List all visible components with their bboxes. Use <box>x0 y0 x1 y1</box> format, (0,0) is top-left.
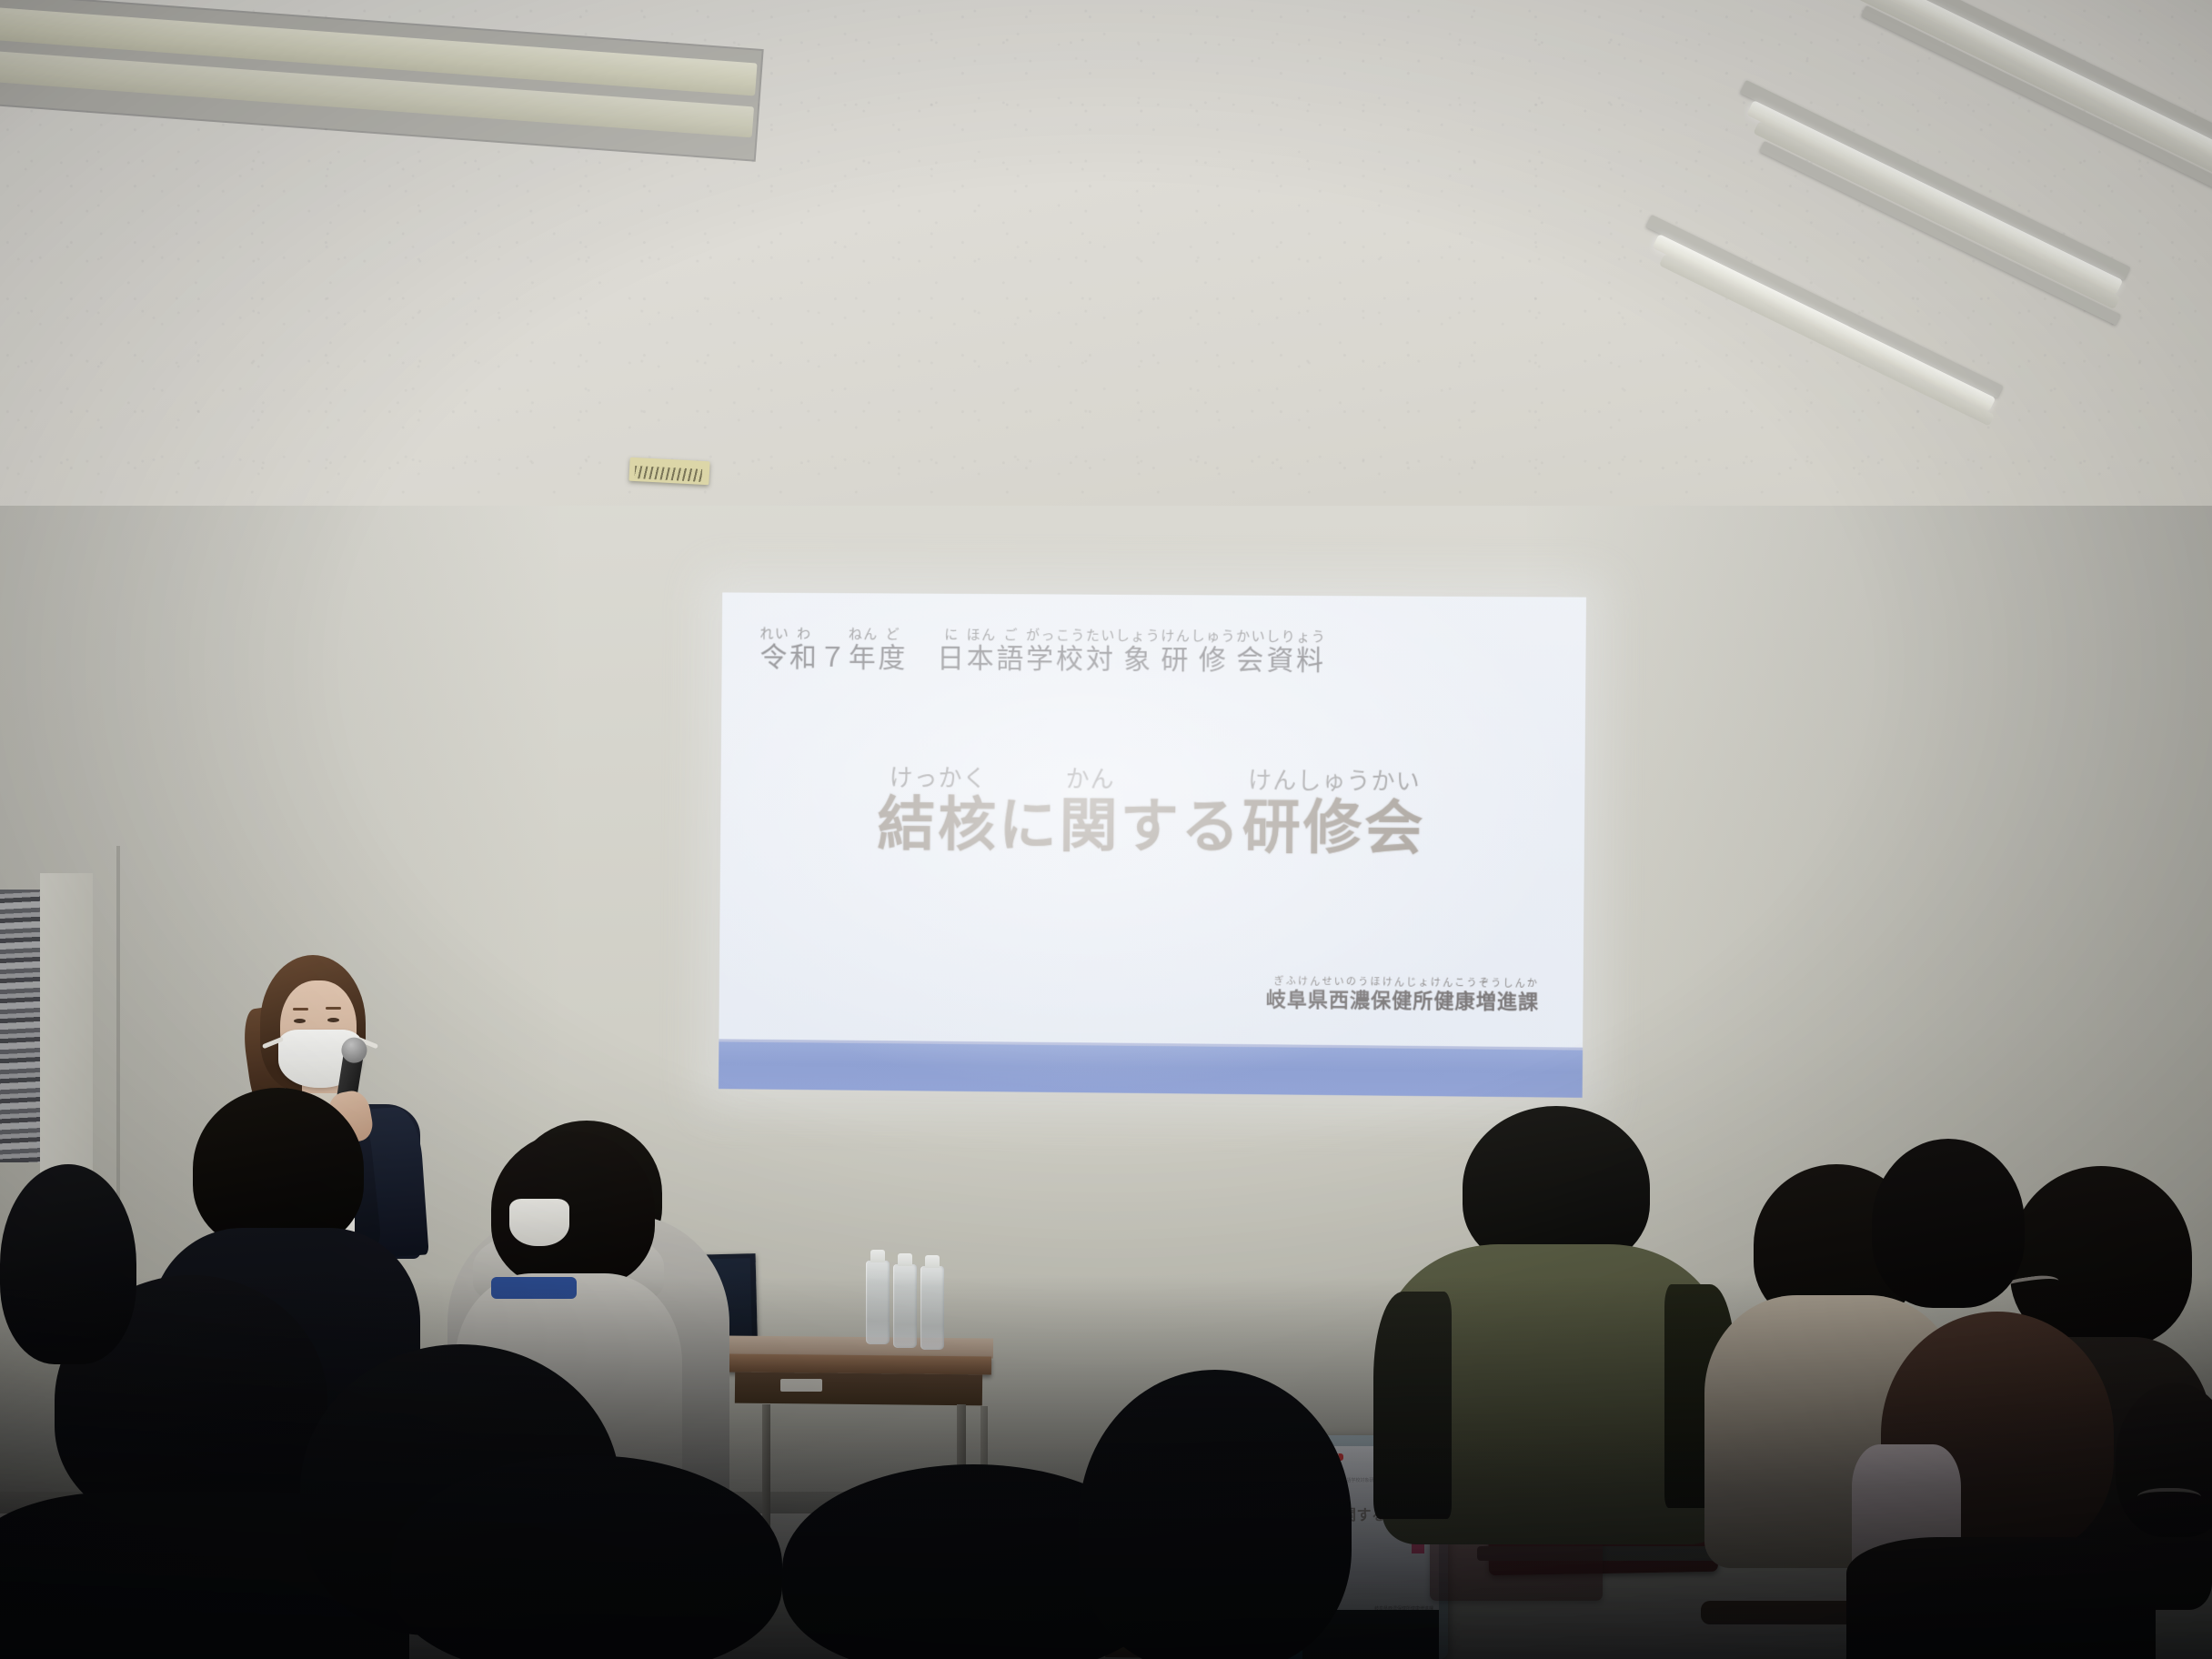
water-bottle <box>893 1264 917 1348</box>
kanji: 研 <box>1161 645 1191 676</box>
kanji: 象 <box>1123 645 1153 676</box>
slide-title: けっかく結核 に かん関 する けんしゅうかい研修会 <box>720 765 1585 862</box>
ruby-unit: ７ <box>819 642 849 674</box>
ruby-unit: に日 <box>937 628 967 674</box>
ruby-unit: れい令 <box>759 628 789 673</box>
ceiling-light-top-right <box>1739 0 2212 364</box>
furigana: しゅう <box>1191 629 1236 644</box>
kanji: 研修会 <box>1242 795 1425 860</box>
furigana: けん <box>1161 629 1191 644</box>
ruby-unit <box>908 642 938 674</box>
wall-seam <box>116 846 120 1228</box>
water-bottle <box>866 1261 890 1344</box>
kanji: に <box>999 793 1060 858</box>
presenter-eyebrow <box>326 1007 341 1010</box>
ceiling-vent <box>628 457 709 486</box>
furigana: がっ <box>1026 628 1056 643</box>
audience-head <box>1872 1139 2025 1308</box>
furigana: しりょう <box>1266 630 1326 645</box>
slide-footer-organization: ぎふけんせいのうほけんじょけんこうぞうしんか 岐阜県西濃保健所健康増進課 <box>1266 977 1540 1013</box>
lanyard <box>491 1277 577 1299</box>
ruby-unit: けっかく結核 <box>877 766 999 857</box>
presenter-eye <box>327 1018 339 1022</box>
kanji: 修 <box>1199 645 1229 676</box>
lecture-room-scene: れい令 わ和 ７ ねん年 ど度 に日 ほん本 ご語 がっ学 こう校 たい対 しょ… <box>0 0 2212 1659</box>
furigana: かん <box>1066 767 1115 790</box>
kanji: 本 <box>967 644 997 675</box>
furigana: ねん <box>849 628 879 642</box>
kanji <box>908 643 938 674</box>
kanji: 会 <box>1236 645 1266 676</box>
ruby-unit: がっ学 <box>1026 628 1056 674</box>
ruby-unit: ど度 <box>878 628 908 673</box>
furigana: ご <box>1004 628 1020 643</box>
ruby-unit: しょう象 <box>1116 629 1161 676</box>
ruby-unit: かん関 <box>1059 767 1121 858</box>
kanji: 対 <box>1086 644 1116 675</box>
projected-slide: れい令 わ和 ７ ねん年 ど度 に日 ほん本 ご語 がっ学 こう校 たい対 しょ… <box>719 592 1586 1097</box>
kanji: 令 <box>759 642 789 673</box>
ruby-unit: しりょう資料 <box>1266 630 1327 677</box>
kanji: 日 <box>937 643 967 674</box>
ruby-unit: わ和 <box>789 628 819 673</box>
kanji: 語 <box>996 644 1026 675</box>
ruby-unit: ご語 <box>996 628 1026 674</box>
audience-head <box>1079 1370 1352 1659</box>
slide-header-line: れい令 わ和 ７ ねん年 ど度 に日 ほん本 ご語 がっ学 こう校 たい対 しょ… <box>759 628 1413 678</box>
presenter-eyebrow <box>293 1008 308 1010</box>
kanji: 和 <box>789 642 819 673</box>
kanji: 関 <box>1059 793 1120 858</box>
furigana: たい <box>1086 629 1116 644</box>
ruby-unit: しゅう修 <box>1191 629 1236 676</box>
ruby-unit: ほん本 <box>966 628 996 674</box>
fluorescent-tube <box>1746 100 2123 295</box>
furigana: かい <box>1236 630 1266 645</box>
audience-head <box>391 1455 782 1659</box>
water-bottle <box>920 1266 944 1350</box>
kanji: 岐阜県西濃保健所健康増進課 <box>1266 989 1540 1013</box>
furigana: れい <box>759 628 789 642</box>
kanji: 学 <box>1026 644 1056 675</box>
slide-accent-bar <box>719 1041 1583 1098</box>
ruby-unit: かい会 <box>1236 630 1266 677</box>
fluorescent-tube <box>1753 121 2120 309</box>
ruby-unit: する <box>1120 791 1242 859</box>
face-mask-icon <box>509 1199 569 1246</box>
kanji: 年 <box>849 643 879 674</box>
ruby-unit: たい対 <box>1086 629 1116 676</box>
presenter-eye <box>294 1019 306 1023</box>
ruby-unit: けん研 <box>1161 629 1191 676</box>
kanji: する <box>1120 794 1242 859</box>
ruby-unit: に <box>999 790 1060 858</box>
ruby-unit: こう校 <box>1056 628 1086 675</box>
furigana: ほん <box>967 628 997 643</box>
ruby-unit: ねん年 <box>849 628 879 673</box>
kanji: 結核 <box>877 792 999 857</box>
audience-head <box>193 1088 364 1250</box>
desk-tray <box>780 1379 822 1392</box>
furigana: ど <box>886 628 901 642</box>
furigana: に <box>944 628 960 643</box>
furigana: こう <box>1056 628 1086 643</box>
kanji: 校 <box>1056 644 1086 675</box>
furigana: わ <box>797 628 812 642</box>
furigana: けっかく <box>890 766 988 790</box>
furigana: しょう <box>1116 629 1161 644</box>
slide-header-ruby-row: れい令 わ和 ７ ねん年 ど度 に日 ほん本 ご語 がっ学 こう校 たい対 しょ… <box>759 628 1413 678</box>
furigana: けんしゅうかい <box>1248 769 1421 793</box>
audience-head <box>0 1164 136 1364</box>
desk-left-apron <box>735 1372 982 1406</box>
ruby-unit: けんしゅうかい研修会 <box>1242 769 1425 860</box>
slide-title-ruby-row: けっかく結核 に かん関 する けんしゅうかい研修会 <box>877 766 1426 860</box>
kanji: 資料 <box>1266 646 1325 677</box>
wall-shelf-edge <box>40 873 93 1173</box>
wall-shelf-slats <box>0 890 40 1162</box>
eyeglasses-icon <box>2137 1488 2201 1508</box>
audience-shoulders <box>1846 1537 2156 1659</box>
audience-arm <box>1373 1292 1452 1519</box>
kanji: ７ <box>819 643 849 674</box>
kanji: 度 <box>878 643 908 674</box>
